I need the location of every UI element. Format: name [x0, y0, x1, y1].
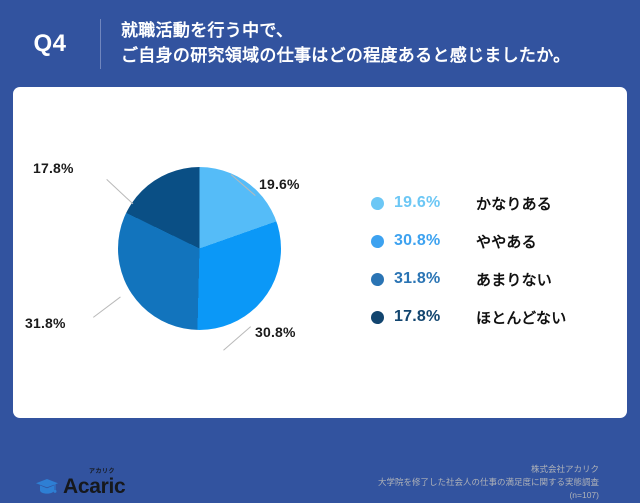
- legend-percent: 30.8%: [394, 232, 460, 250]
- credit-sample-size: (n=107): [378, 489, 599, 502]
- legend-dot-icon: [371, 311, 384, 324]
- leader-line-bottom-right: [223, 326, 251, 350]
- legend-dot-icon: [371, 197, 384, 210]
- legend-item-kanari-aru: 19.6% かなりある: [371, 187, 611, 219]
- pie-graphic: [118, 167, 281, 330]
- legend-label: ややある: [476, 231, 537, 252]
- slide-frame: Q4 就職活動を行う中で、 ご自身の研究領域の仕事はどの程度あると感じましたか。…: [0, 0, 640, 427]
- header-divider: [100, 19, 101, 69]
- acaric-logo: Acaric アカリク: [35, 475, 125, 499]
- pie-label-kanari-aru: 19.6%: [259, 176, 300, 192]
- legend-percent: 19.6%: [394, 194, 460, 212]
- legend-item-amari-nai: 31.8% あまりない: [371, 263, 611, 295]
- question-header: Q4 就職活動を行う中で、 ご自身の研究領域の仕事はどの程度あると感じましたか。: [0, 0, 640, 87]
- graduation-cap-icon: [35, 477, 59, 497]
- chart-legend: 19.6% かなりある 30.8% ややある 31.8% あまりない 17.8%…: [371, 187, 611, 339]
- logo-name: Acaric: [63, 475, 125, 498]
- legend-dot-icon: [371, 273, 384, 286]
- legend-item-hotondo-nai: 17.8% ほとんどない: [371, 301, 611, 333]
- leader-line-bottom-left: [93, 297, 121, 318]
- pie-label-amari-nai: 31.8%: [25, 315, 66, 331]
- legend-item-yaya-aru: 30.8% ややある: [371, 225, 611, 257]
- source-credits: 株式会社アカリク 大学院を修了した社会人の仕事の満足度に関する実態調査 (n=1…: [378, 463, 599, 503]
- leader-line-top-left: [106, 179, 133, 204]
- logo-furigana: アカリク: [89, 466, 115, 475]
- credit-survey: 大学院を修了した社会人の仕事の満足度に関する実態調査: [378, 476, 599, 489]
- logo-wordmark: Acaric アカリク: [63, 475, 125, 499]
- legend-label: ほとんどない: [476, 307, 566, 328]
- legend-label: かなりある: [476, 193, 552, 214]
- legend-label: あまりない: [476, 269, 552, 290]
- pie-label-yaya-aru: 30.8%: [255, 324, 296, 340]
- legend-dot-icon: [371, 235, 384, 248]
- title-line-2: ご自身の研究領域の仕事はどの程度あると感じましたか。: [121, 44, 570, 69]
- page-title: 就職活動を行う中で、 ご自身の研究領域の仕事はどの程度あると感じましたか。: [121, 19, 570, 68]
- title-line-1: 就職活動を行う中で、: [121, 19, 570, 44]
- legend-percent: 17.8%: [394, 308, 460, 326]
- credit-company: 株式会社アカリク: [378, 463, 599, 476]
- question-number: Q4: [0, 30, 100, 58]
- content-card: 17.8% 19.6% 31.8% 30.8% 19.6% かなりある 30.8…: [13, 87, 627, 418]
- pie-chart: 17.8% 19.6% 31.8% 30.8%: [33, 162, 363, 352]
- pie-label-hotondo-nai: 17.8%: [33, 160, 74, 176]
- legend-percent: 31.8%: [394, 270, 460, 288]
